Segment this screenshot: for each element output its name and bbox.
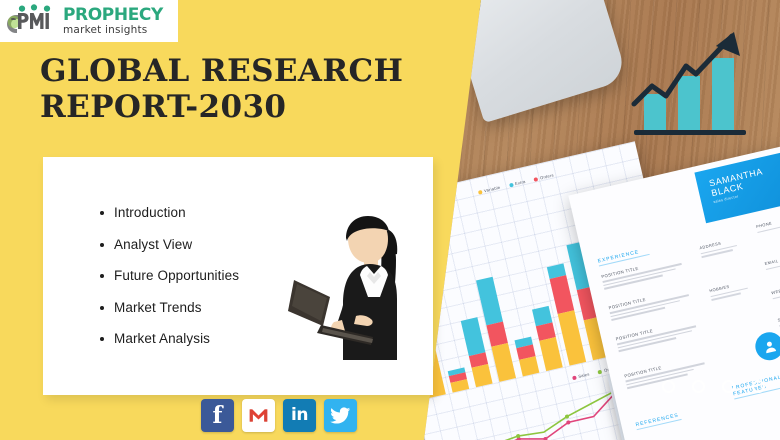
list-item[interactable]: Future Opportunities — [100, 268, 239, 283]
facebook-glyph: f — [213, 404, 223, 427]
resume-section-experience: EXPERIENCE — [597, 247, 649, 265]
carousel-dot-1[interactable] — [662, 380, 675, 393]
linkedin-glyph: in — [291, 407, 308, 424]
businesswoman-with-laptop-illustration — [288, 212, 430, 360]
linkedin-icon[interactable]: in — [283, 399, 316, 432]
list-item[interactable]: Market Trends — [100, 300, 239, 315]
twitter-icon[interactable] — [324, 399, 357, 432]
page-title: GLOBAL RESEARCH REPORT-2030 — [40, 53, 460, 125]
resume-field: EMAIL — [764, 250, 780, 270]
brand-wordmark: PROPHECY market insights — [63, 7, 163, 36]
list-item[interactable]: Introduction — [100, 205, 239, 220]
bar-column — [514, 337, 539, 377]
list-item[interactable]: Market Analysis — [100, 331, 239, 346]
gmail-icon[interactable] — [242, 399, 275, 432]
resume-field: PHONE — [756, 213, 780, 233]
brand-logo[interactable]: PROPHECY market insights — [0, 0, 178, 42]
carousel-dot-4[interactable] — [752, 380, 765, 393]
resume-position-entry: POSITION TITLE — [608, 287, 693, 321]
headline-line-1: GLOBAL RESEARCH — [40, 53, 460, 89]
carousel-dot-3[interactable] — [722, 380, 735, 393]
brand-name-primary: PROPHECY — [63, 7, 163, 24]
bar-column — [448, 367, 470, 392]
brand-name-secondary: market insights — [63, 24, 163, 36]
pmi-people-globe-icon — [5, 4, 61, 38]
list-item[interactable]: Analyst View — [100, 237, 239, 252]
resume-section-references: REFERENCES — [635, 412, 681, 428]
field-label: EMAIL — [764, 250, 780, 266]
twitter-bird-glyph — [330, 405, 351, 426]
growth-chart-icon — [628, 22, 760, 140]
carousel-pagination[interactable] — [662, 380, 765, 393]
resume-field: WEBSITE — [771, 279, 780, 299]
facebook-icon[interactable]: f — [201, 399, 234, 432]
gmail-envelope-glyph — [248, 405, 269, 426]
social-links[interactable]: f in — [201, 399, 357, 432]
promo-banner-slide: Variable Extra Orders Sales Orders — [0, 0, 780, 440]
user-avatar-icon — [753, 329, 780, 363]
carousel-dot-2[interactable] — [692, 380, 705, 393]
topics-list: Introduction Analyst View Future Opportu… — [100, 205, 239, 363]
resume-position-entry: POSITION TITLE — [615, 318, 700, 352]
headline-line-2: REPORT-2030 — [40, 89, 460, 125]
field-label: WEBSITE — [771, 279, 780, 295]
resume-field: ADDRESS — [699, 234, 751, 258]
resume-field: HOBBIES — [709, 277, 761, 301]
